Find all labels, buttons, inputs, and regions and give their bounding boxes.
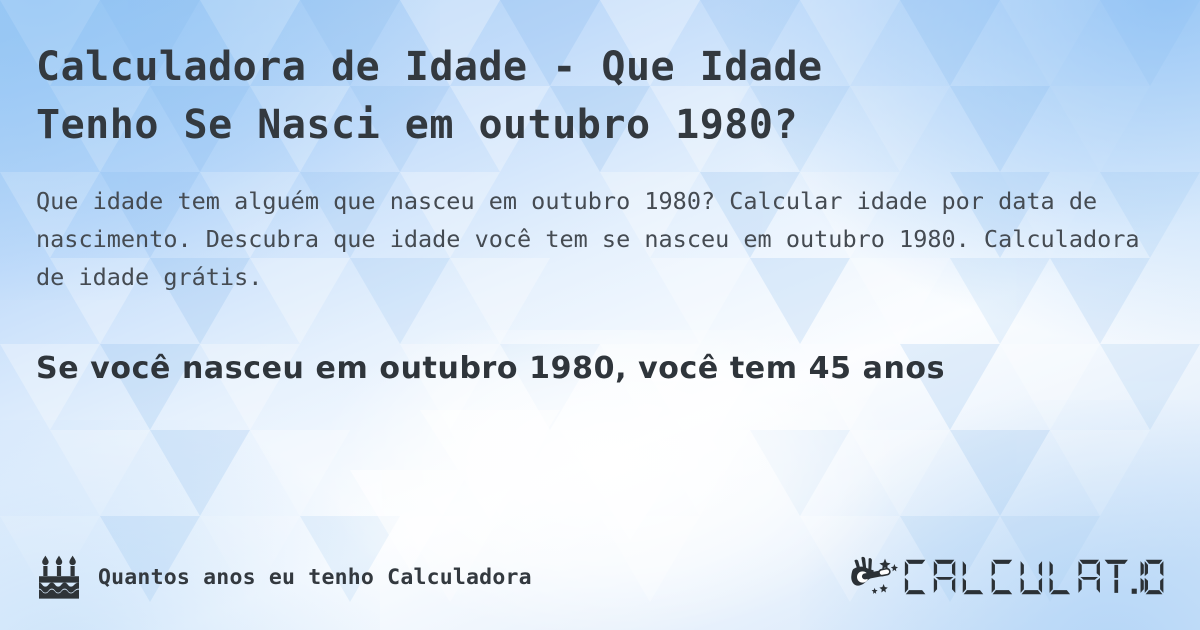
footer: Quantos anos eu tenho Calculadora <box>36 550 1170 604</box>
og-image-canvas: Calculadora de Idade - Que Idade Tenho S… <box>0 0 1200 630</box>
calculatio-logo[interactable]: CALCULAT.IO <box>849 554 1164 600</box>
footer-brand: Quantos anos eu tenho Calculadora <box>36 555 532 599</box>
magic-wand-hand-icon <box>849 554 901 600</box>
content-area: Calculadora de Idade - Que Idade Tenho S… <box>0 0 1200 630</box>
age-answer: Se você nasceu em outubro 1980, você tem… <box>36 296 1106 392</box>
page-description: Que idade tem alguém que nasceu em outub… <box>36 154 1164 296</box>
calculatio-wordmark: CALCULAT.IO <box>903 556 1164 598</box>
footer-label: Quantos anos eu tenho Calculadora <box>98 565 532 590</box>
birthday-cake-icon <box>36 555 82 599</box>
page-title: Calculadora de Idade - Que Idade Tenho S… <box>36 0 1036 154</box>
